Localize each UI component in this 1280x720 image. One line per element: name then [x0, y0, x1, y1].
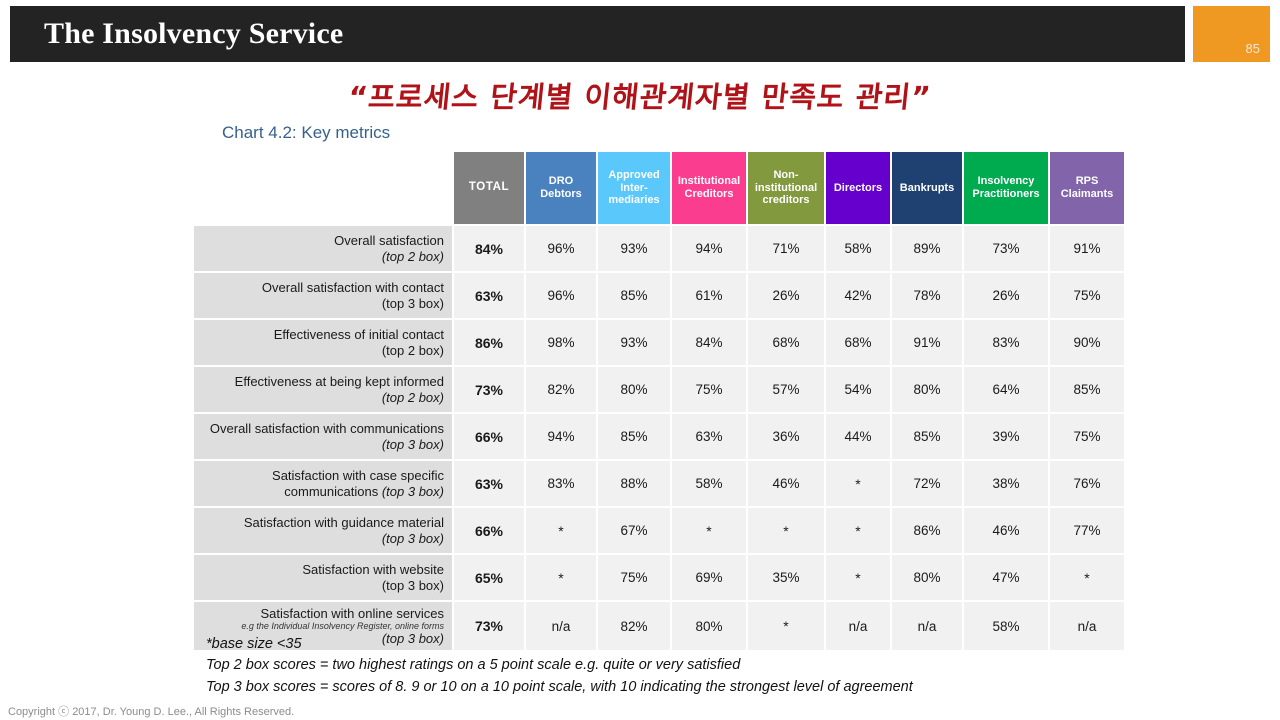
data-cell: 39% [964, 414, 1048, 459]
data-cell: * [526, 508, 596, 553]
row-label-qualifier: (top 2 box) [382, 249, 444, 264]
page-number: 85 [1246, 41, 1260, 56]
column-header-line: TOTAL [456, 181, 522, 194]
data-cell: 54% [826, 367, 890, 412]
data-cell: 86% [892, 508, 962, 553]
key-metrics-table: TOTALDRODebtorsApprovedInter-mediariesIn… [192, 150, 1126, 652]
data-cell: 26% [748, 273, 824, 318]
row-label: Satisfaction with website(top 3 box) [194, 555, 452, 600]
row-label-main: Satisfaction with online services [260, 606, 444, 621]
column-header-6: Bankrupts [892, 152, 962, 224]
column-header-line: Institutional [674, 175, 744, 188]
footnote-line: Top 2 box scores = two highest ratings o… [206, 655, 913, 676]
data-cell: * [826, 508, 890, 553]
column-header-7: InsolvencyPractitioners [964, 152, 1048, 224]
footnotes: *base size <35Top 2 box scores = two hig… [206, 634, 913, 698]
table-body: Overall satisfaction(top 2 box)84%96%93%… [194, 226, 1124, 650]
column-header-line: Creditors [674, 188, 744, 201]
data-cell: 83% [964, 320, 1048, 365]
column-header-line: Non- [750, 169, 822, 182]
data-cell: 88% [598, 461, 670, 506]
data-cell: 96% [526, 226, 596, 271]
data-cell: 94% [672, 226, 746, 271]
data-cell: 85% [598, 273, 670, 318]
data-cell: 63% [454, 461, 524, 506]
data-cell: 85% [598, 414, 670, 459]
footnote-line: *base size <35 [206, 634, 913, 655]
data-cell: 75% [1050, 273, 1124, 318]
column-header-line: institutional [750, 182, 822, 195]
data-cell: 80% [892, 367, 962, 412]
column-header-4: Non-institutionalcreditors [748, 152, 824, 224]
row-label-main: Overall satisfaction with communications [210, 421, 444, 436]
table-header: TOTALDRODebtorsApprovedInter-mediariesIn… [194, 152, 1124, 224]
row-label: Overall satisfaction with contact(top 3 … [194, 273, 452, 318]
data-cell: 86% [454, 320, 524, 365]
data-cell: 63% [454, 273, 524, 318]
table-row: Effectiveness of initial contact(top 2 b… [194, 320, 1124, 365]
slide-title-bar: The Insolvency Service [10, 6, 1185, 62]
data-cell: 93% [598, 320, 670, 365]
row-label-main: Satisfaction with guidance material [244, 515, 444, 530]
column-header-line: Directors [828, 182, 888, 195]
data-cell: 98% [526, 320, 596, 365]
table-row: Overall satisfaction with communications… [194, 414, 1124, 459]
row-label-qualifier: (top 3 box) [382, 578, 444, 593]
row-label-note: e.g the Individual Insolvency Register, … [200, 621, 444, 631]
data-cell: 93% [598, 226, 670, 271]
data-cell: 46% [964, 508, 1048, 553]
data-cell: * [826, 461, 890, 506]
data-cell: 47% [964, 555, 1048, 600]
data-cell: 68% [826, 320, 890, 365]
data-cell: 66% [454, 508, 524, 553]
data-cell: 83% [526, 461, 596, 506]
data-cell: 36% [748, 414, 824, 459]
row-label: Satisfaction with guidance material(top … [194, 508, 452, 553]
data-cell: 44% [826, 414, 890, 459]
data-cell: * [526, 555, 596, 600]
row-label: Overall satisfaction(top 2 box) [194, 226, 452, 271]
data-cell: 57% [748, 367, 824, 412]
row-label-main: Effectiveness at being kept informed [235, 374, 444, 389]
row-label: Overall satisfaction with communications… [194, 414, 452, 459]
table-header-row: TOTALDRODebtorsApprovedInter-mediariesIn… [194, 152, 1124, 224]
data-cell: 58% [964, 602, 1048, 650]
row-label-qualifier: (top 2 box) [382, 390, 444, 405]
column-header-0: TOTAL [454, 152, 524, 224]
slide-title: The Insolvency Service [10, 17, 343, 51]
data-cell: 35% [748, 555, 824, 600]
row-label-qualifier: (top 3 box) [382, 531, 444, 546]
data-cell: 67% [598, 508, 670, 553]
data-cell: 75% [672, 367, 746, 412]
column-header-3: InstitutionalCreditors [672, 152, 746, 224]
table-row: Satisfaction with guidance material(top … [194, 508, 1124, 553]
data-cell: 46% [748, 461, 824, 506]
column-header-5: Directors [826, 152, 890, 224]
page-number-badge: 85 [1193, 6, 1270, 62]
row-label-main: Effectiveness of initial contact [274, 327, 444, 342]
data-cell: * [1050, 555, 1124, 600]
data-cell: 80% [892, 555, 962, 600]
data-cell: * [748, 508, 824, 553]
column-header-line: RPS [1052, 175, 1122, 188]
data-cell: 58% [826, 226, 890, 271]
data-cell: 94% [526, 414, 596, 459]
data-cell: 75% [598, 555, 670, 600]
data-cell: 80% [598, 367, 670, 412]
data-cell: 84% [672, 320, 746, 365]
row-label-qualifier: (top 3 box) [382, 296, 444, 311]
column-header-line: mediaries [600, 194, 668, 207]
data-cell: 65% [454, 555, 524, 600]
data-cell: * [672, 508, 746, 553]
table-row: Satisfaction with website(top 3 box)65%*… [194, 555, 1124, 600]
data-cell: * [826, 555, 890, 600]
data-cell: 38% [964, 461, 1048, 506]
data-cell: 85% [1050, 367, 1124, 412]
data-cell: 61% [672, 273, 746, 318]
column-header-line: Inter- [600, 182, 668, 195]
row-label-qualifier: (top 3 box) [382, 437, 444, 452]
column-header-1: DRODebtors [526, 152, 596, 224]
data-cell: 84% [454, 226, 524, 271]
data-cell: 68% [748, 320, 824, 365]
data-cell: 77% [1050, 508, 1124, 553]
row-label-main: Overall satisfaction [334, 233, 444, 248]
copyright-notice: Copyright ⓒ 2017, Dr. Young D. Lee., All… [8, 703, 294, 719]
row-label: Satisfaction with case specific communic… [194, 461, 452, 506]
data-cell: 58% [672, 461, 746, 506]
data-cell: 26% [964, 273, 1048, 318]
data-cell: 91% [892, 320, 962, 365]
korean-heading: “프로세스 단계별 이해관계자별 만족도 관리” [0, 74, 1280, 116]
table-row: Overall satisfaction with contact(top 3 … [194, 273, 1124, 318]
row-label-main: Satisfaction with website [302, 562, 444, 577]
data-cell: 66% [454, 414, 524, 459]
data-cell: 42% [826, 273, 890, 318]
chart-caption: Chart 4.2: Key metrics [222, 123, 390, 143]
data-cell: 91% [1050, 226, 1124, 271]
column-header-line: Approved [600, 169, 668, 182]
data-cell: 76% [1050, 461, 1124, 506]
data-cell: n/a [1050, 602, 1124, 650]
header-corner-spacer [194, 152, 452, 224]
data-cell: 69% [672, 555, 746, 600]
data-cell: 64% [964, 367, 1048, 412]
column-header-line: Debtors [528, 188, 594, 201]
data-cell: 75% [1050, 414, 1124, 459]
data-cell: 72% [892, 461, 962, 506]
row-label-qualifier: (top 2 box) [382, 343, 444, 358]
data-cell: 78% [892, 273, 962, 318]
column-header-line: creditors [750, 194, 822, 207]
row-label-qualifier: (top 3 box) [382, 484, 444, 499]
column-header-line: Practitioners [966, 188, 1046, 201]
data-cell: 82% [526, 367, 596, 412]
data-cell: 90% [1050, 320, 1124, 365]
slide-canvas: The Insolvency Service 85 “프로세스 단계별 이해관계… [0, 0, 1280, 720]
data-cell: 96% [526, 273, 596, 318]
table-row: Effectiveness at being kept informed(top… [194, 367, 1124, 412]
column-header-line: Insolvency [966, 175, 1046, 188]
row-label-main: Overall satisfaction with contact [262, 280, 444, 295]
data-cell: 85% [892, 414, 962, 459]
column-header-2: ApprovedInter-mediaries [598, 152, 670, 224]
column-header-8: RPSClaimants [1050, 152, 1124, 224]
data-cell: 73% [454, 367, 524, 412]
column-header-line: Bankrupts [894, 182, 960, 195]
row-label: Effectiveness at being kept informed(top… [194, 367, 452, 412]
footnote-line: Top 3 box scores = scores of 8. 9 or 10 … [206, 677, 913, 698]
table-row: Satisfaction with case specific communic… [194, 461, 1124, 506]
data-cell: 89% [892, 226, 962, 271]
column-header-line: Claimants [1052, 188, 1122, 201]
column-header-line: DRO [528, 175, 594, 188]
data-cell: 71% [748, 226, 824, 271]
data-cell: 63% [672, 414, 746, 459]
table-row: Overall satisfaction(top 2 box)84%96%93%… [194, 226, 1124, 271]
row-label: Effectiveness of initial contact(top 2 b… [194, 320, 452, 365]
data-cell: 73% [964, 226, 1048, 271]
